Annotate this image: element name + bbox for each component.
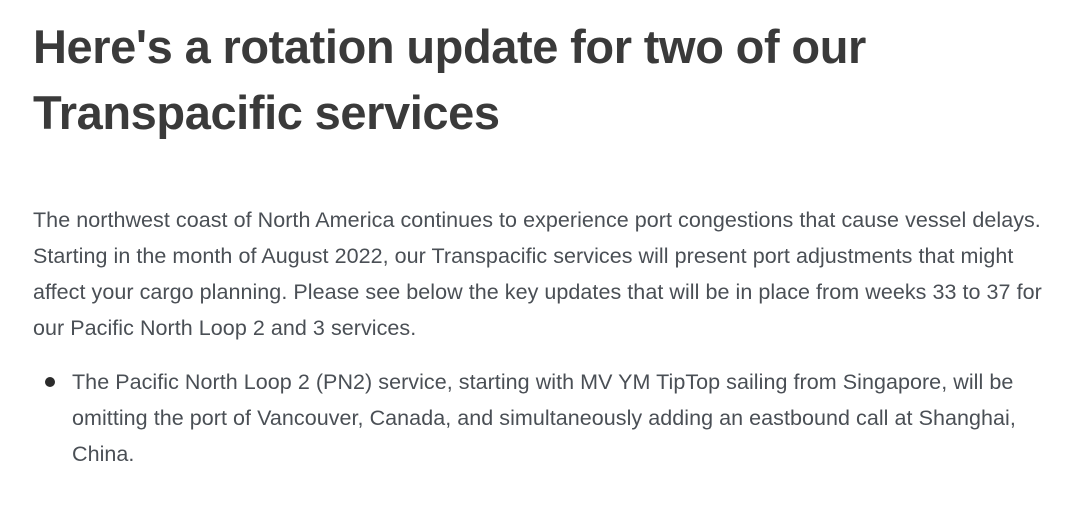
disc-bullet-icon bbox=[45, 377, 55, 387]
article-page: Here's a rotation update for two of our … bbox=[0, 0, 1080, 521]
list-item: The Pacific North Loop 2 (PN2) service, … bbox=[33, 364, 1045, 472]
intro-paragraph: The northwest coast of North America con… bbox=[33, 146, 1045, 346]
page-title: Here's a rotation update for two of our … bbox=[33, 0, 1043, 146]
updates-list: The Pacific North Loop 2 (PN2) service, … bbox=[33, 346, 1045, 472]
list-item-label: The Pacific North Loop 2 (PN2) service, … bbox=[72, 370, 1016, 466]
